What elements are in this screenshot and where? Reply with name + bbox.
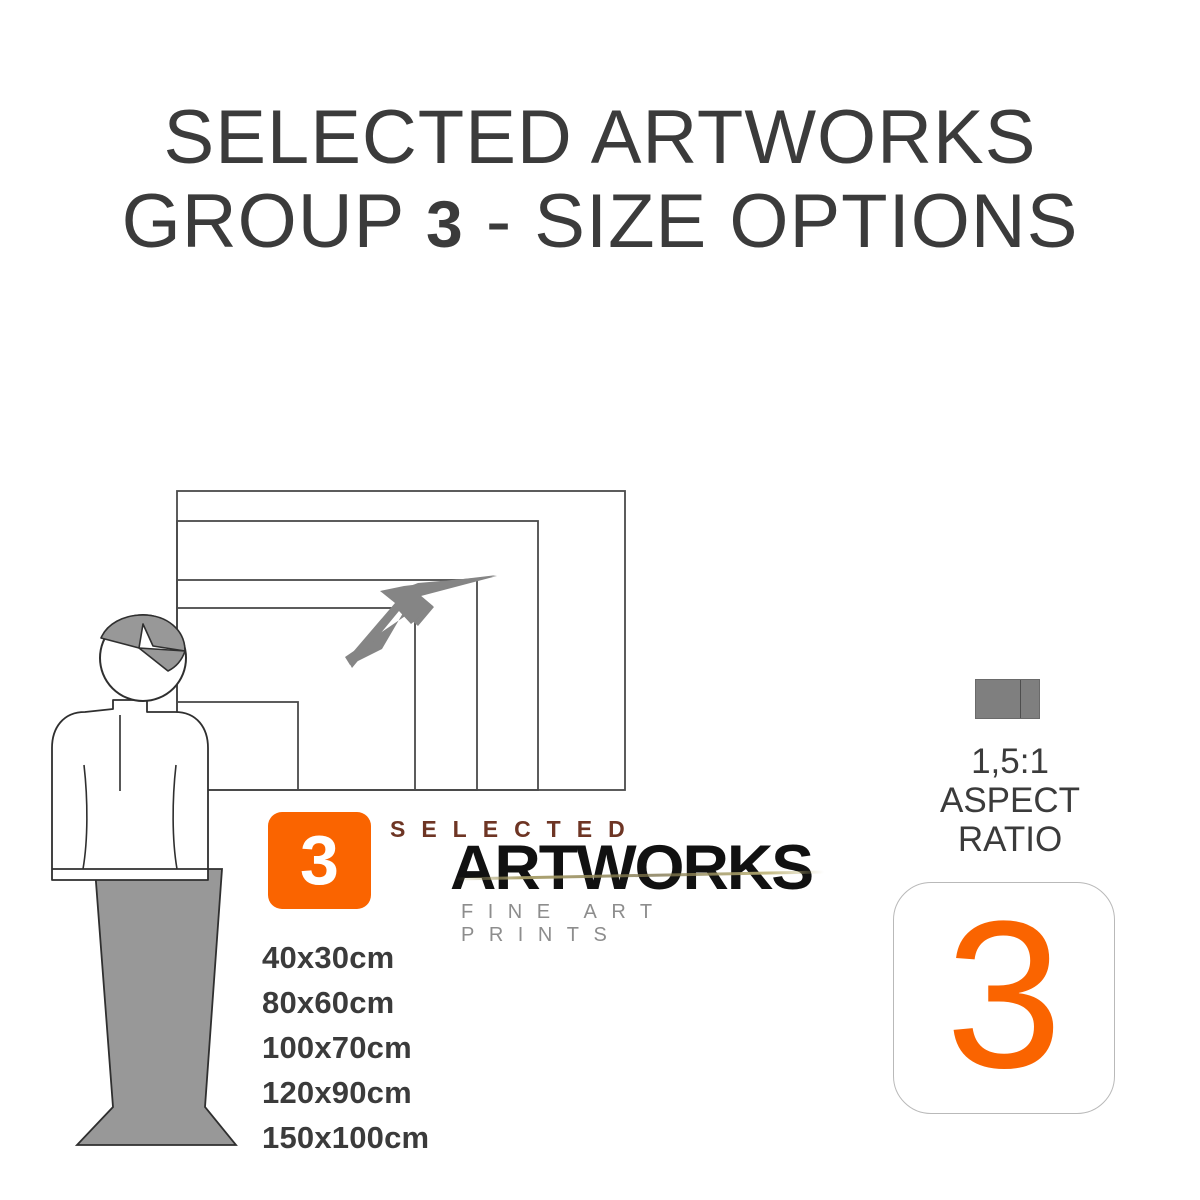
size-option-item: 80x60cm	[262, 980, 429, 1025]
group-number-card: 3	[893, 882, 1115, 1114]
logo-word-artworks: ARTWORKS	[450, 832, 812, 904]
logo-tagline: FINE ART PRINTS	[461, 901, 828, 947]
group-number-value: 3	[894, 883, 1114, 1113]
logo-badge-number: 3	[268, 812, 371, 909]
size-option-item: 40x30cm	[262, 935, 429, 980]
scale-arrow-icon	[345, 575, 497, 668]
size-option-item: 100x70cm	[262, 1025, 429, 1070]
frame-outlines	[177, 491, 625, 790]
aspect-ratio-swatch-divider	[1020, 680, 1021, 718]
brand-logo: 3 SELECTED ARTWORKS FINE ART PRINTS	[268, 812, 828, 922]
size-option-item: 150x100cm	[262, 1115, 429, 1160]
frame-rect-100x70	[177, 580, 477, 790]
aspect-ratio-word-1: ASPECT	[890, 781, 1130, 820]
aspect-ratio-word-2: RATIO	[890, 820, 1130, 859]
aspect-ratio-swatch-icon	[975, 679, 1040, 719]
size-options-list: 40x30cm 80x60cm 100x70cm 120x90cm 150x10…	[262, 935, 429, 1160]
aspect-ratio-value: 1,5:1	[890, 742, 1130, 781]
person-legs	[77, 869, 236, 1145]
person-torso	[52, 700, 208, 880]
frame-rect-150x100	[177, 491, 625, 790]
size-option-item: 120x90cm	[262, 1070, 429, 1115]
person-figure	[52, 615, 236, 1145]
aspect-ratio-label: 1,5:1 ASPECT RATIO	[890, 742, 1130, 859]
